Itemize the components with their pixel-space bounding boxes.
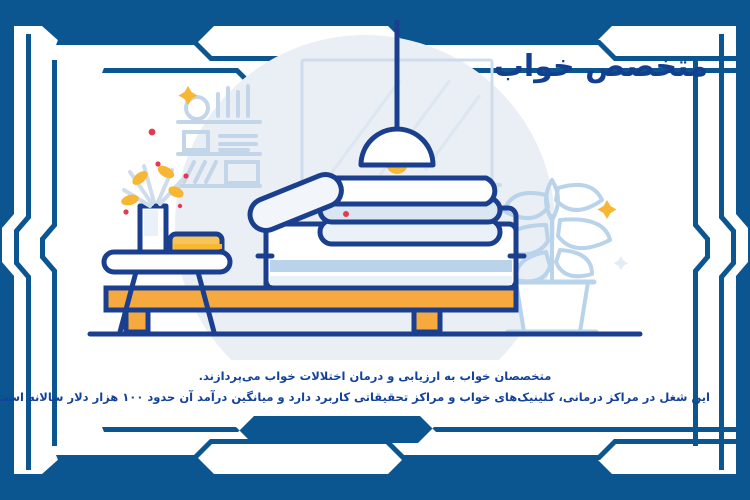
- pillow-flat: [327, 178, 495, 204]
- description-line-1: متخصصان خواب به ارزیابی و درمان اختلالات…: [40, 366, 710, 387]
- book-icon: [170, 234, 222, 252]
- description-line-2: این شغل در مراکز درمانی، کلینیک‌های خواب…: [40, 387, 710, 408]
- sparkle-icon: [179, 86, 198, 105]
- frame-bottom-line-1: [56, 439, 750, 460]
- description-block: متخصصان خواب به ارزیابی و درمان اختلالات…: [40, 366, 710, 409]
- bed-leg-left: [126, 310, 148, 332]
- frame-left-band: [0, 20, 14, 480]
- infographic-card: متخصص خواب متخصصان خواب به ارزیابی و درم…: [0, 0, 750, 500]
- frame-bottom-line-2: [102, 416, 750, 443]
- frame-bottom-band: [0, 458, 750, 500]
- frame-right-line-1: [719, 34, 736, 470]
- bed-leg-right: [414, 310, 440, 332]
- bed-frame-plank: [106, 288, 516, 310]
- dot-icon: [343, 211, 349, 217]
- sparkle-pale: [614, 256, 628, 270]
- frame-right-band: [736, 20, 750, 480]
- dot-icon: [149, 129, 156, 136]
- page-title: متخصص خواب: [494, 52, 708, 82]
